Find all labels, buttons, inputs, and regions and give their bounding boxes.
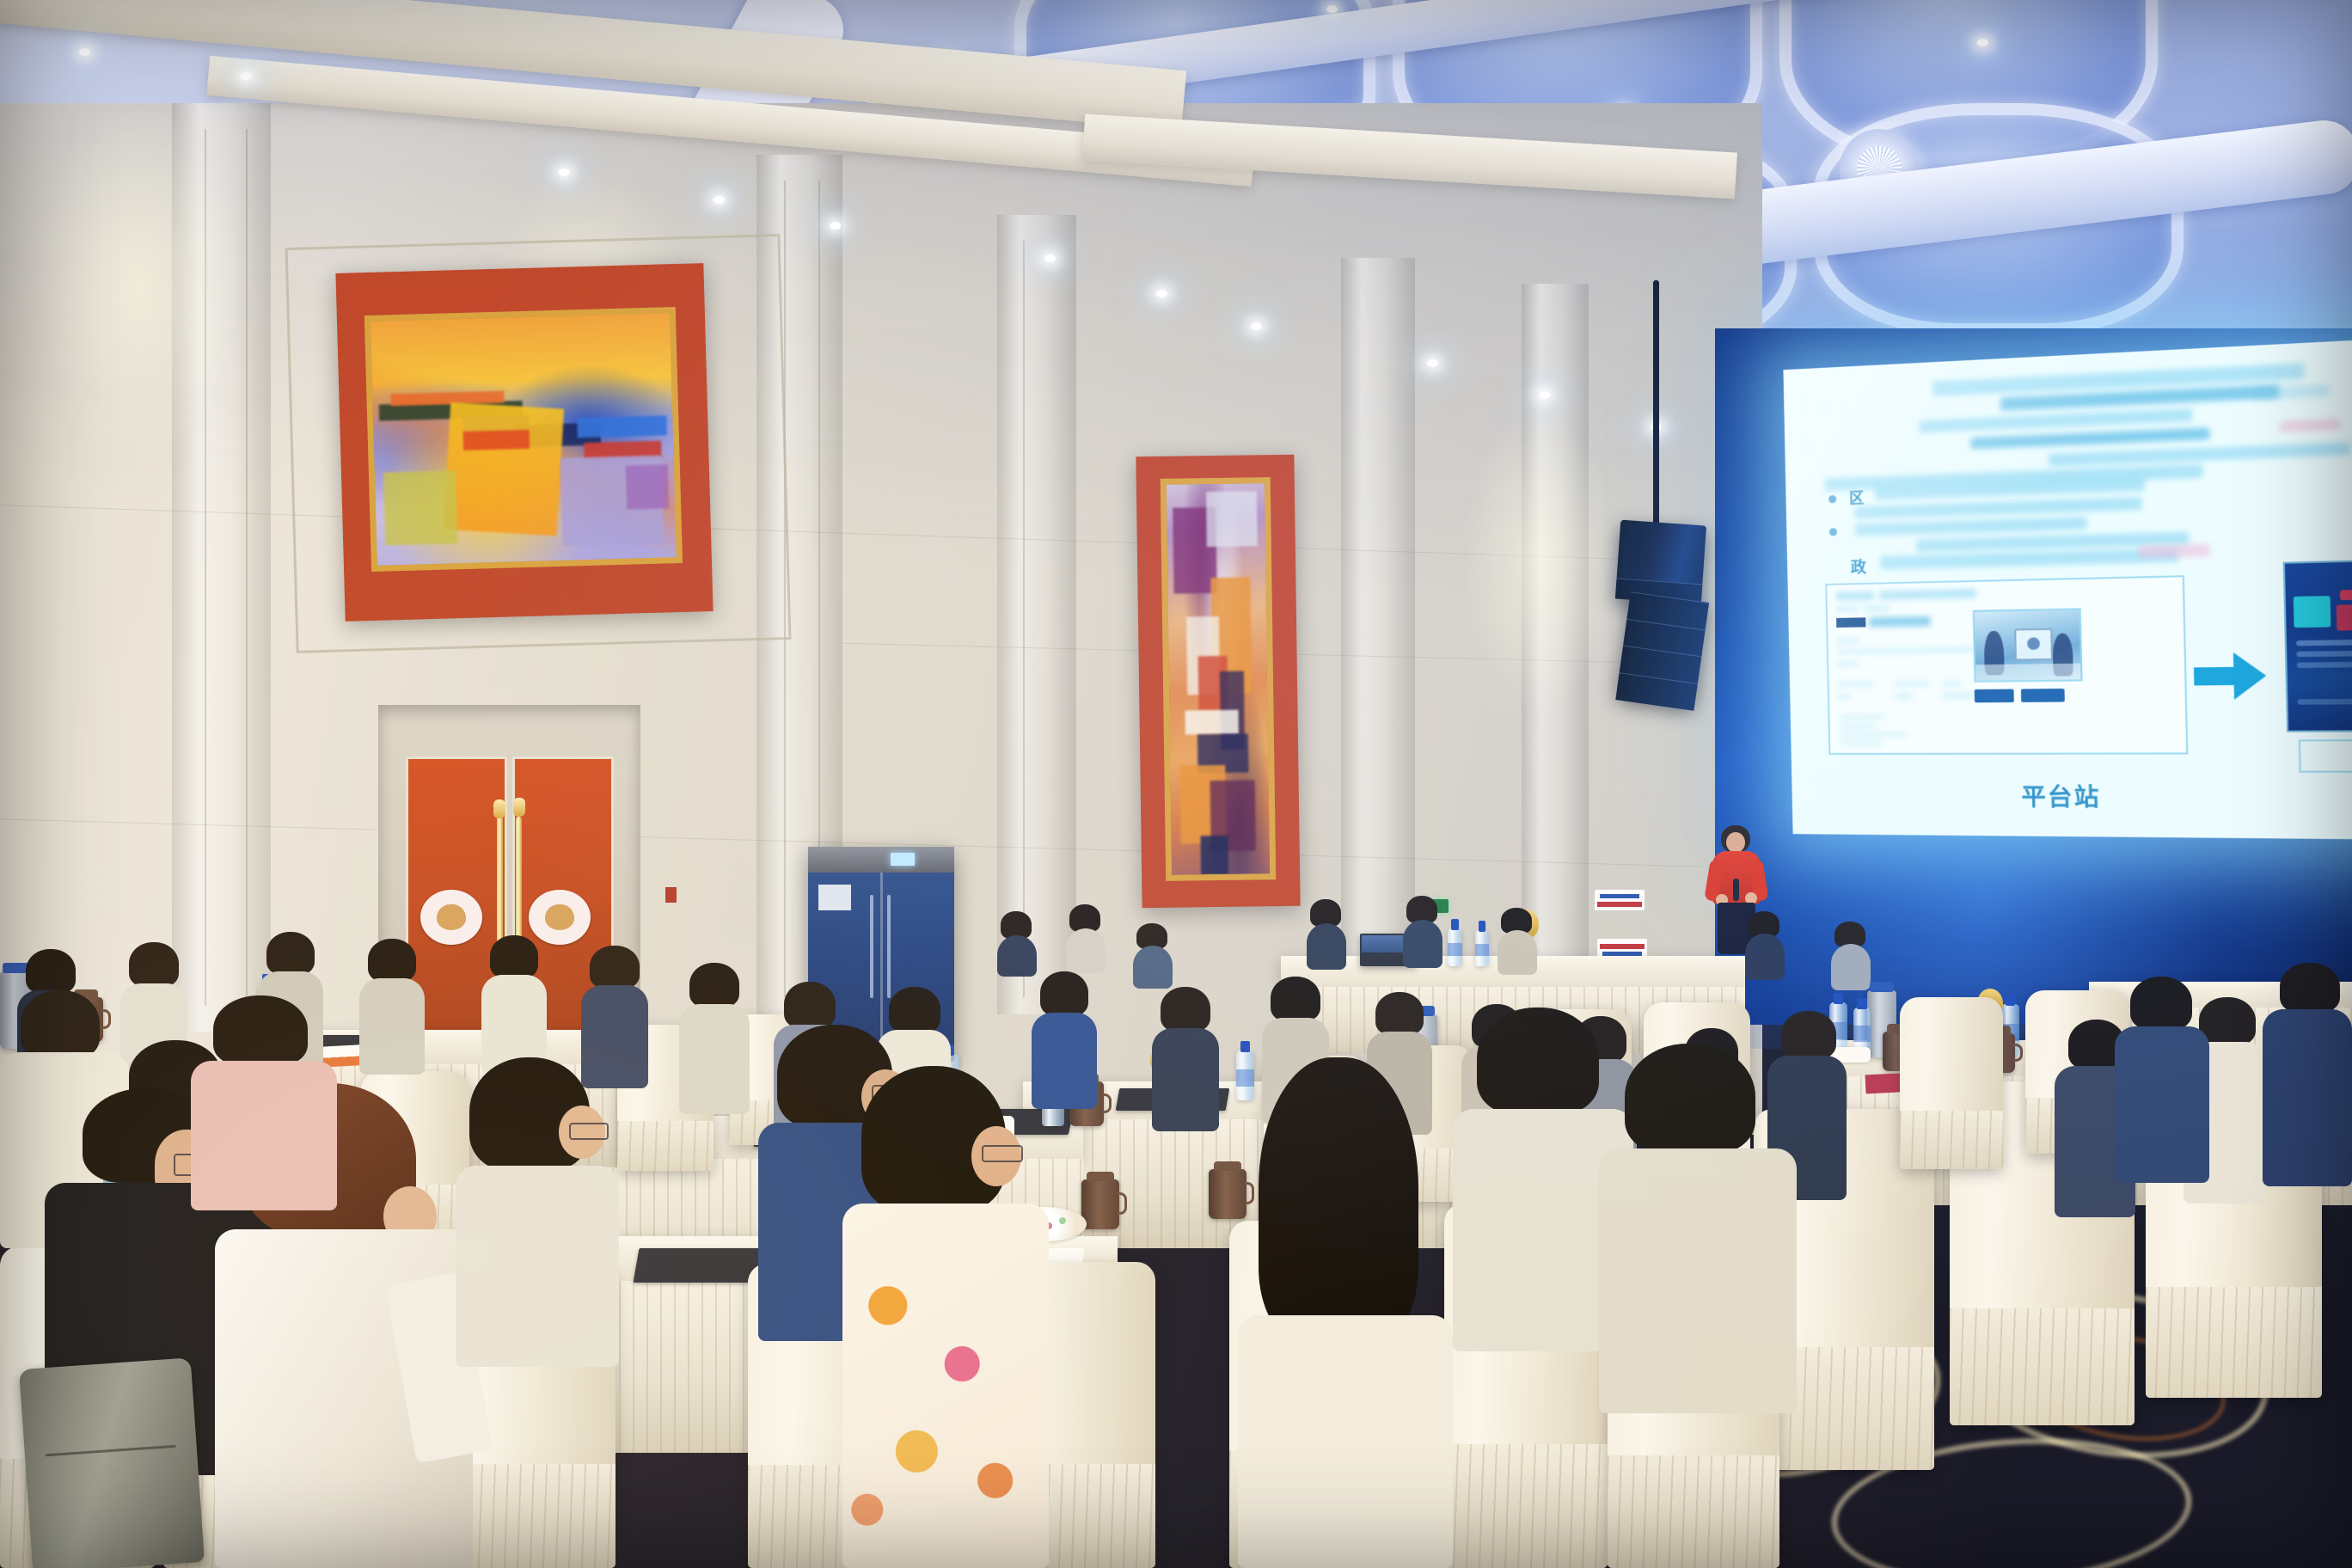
conference-hall-photo: 区 政: [0, 0, 2352, 1568]
fridge-handle-left[interactable]: [870, 895, 873, 998]
slide-arrow-shaft: [2194, 667, 2234, 686]
attendee-foreground-floral: [842, 1066, 1049, 1568]
person-far: [1066, 904, 1106, 973]
attendee: [359, 939, 425, 1075]
eyeglasses: [982, 1145, 1023, 1162]
person-far: [1307, 899, 1346, 970]
person-far: [1403, 896, 1442, 968]
slide-screenshot-card: [1825, 575, 2188, 755]
person-far: [1133, 923, 1173, 989]
handheld-microphone: [1733, 879, 1739, 901]
slide-bullet-2: [1829, 528, 1837, 536]
attendee-foreground: [1599, 1044, 1797, 1413]
slide-app-screenshot: [2283, 558, 2352, 732]
water-bottle[interactable]: [1448, 928, 1462, 966]
line-array-speaker: [1615, 520, 1706, 605]
fridge-label: [818, 885, 851, 910]
slide-caption: 平台站: [2021, 778, 2101, 813]
slide-photo-button-1: [1975, 689, 2014, 703]
door-handle-right[interactable]: [516, 817, 522, 946]
backpack[interactable]: [19, 1357, 205, 1568]
attendee: [2263, 963, 2352, 1186]
person-far: [1831, 922, 1871, 990]
wall-notice-upper: [1595, 890, 1645, 910]
fridge-display: [891, 853, 915, 866]
speaker-mount-pole: [1653, 280, 1659, 538]
slide-arrow-head: [2233, 652, 2267, 700]
door-knob-left[interactable]: [493, 799, 505, 818]
slide-bullet-1: [1828, 495, 1836, 503]
artwork-panel-1: [335, 263, 713, 622]
projection-screen: 区 政: [1783, 336, 2352, 840]
eyeglasses: [569, 1123, 609, 1140]
slide-photo-button-2: [2021, 689, 2065, 702]
fire-alarm-box: [664, 885, 678, 904]
line-array-speaker-lower: [1616, 591, 1709, 707]
water-bottle[interactable]: [1475, 930, 1489, 966]
attendee: [1152, 987, 1219, 1131]
slide-photo-thumbnail: [1973, 608, 2083, 682]
fridge-handle-right[interactable]: [887, 895, 891, 998]
attendee: [679, 963, 750, 1114]
door-knob-right[interactable]: [513, 798, 525, 817]
person-far: [1498, 908, 1537, 975]
attendee-foreground-long-hair: [1238, 1057, 1453, 1568]
artwork-panel-2: [1136, 455, 1300, 909]
attendee-foreground-glasses: [456, 1057, 619, 1367]
door-handle-left[interactable]: [497, 817, 503, 946]
attendee: [2115, 977, 2209, 1183]
banquet-chair[interactable]: [1900, 997, 2003, 1169]
clay-teapot[interactable]: [1081, 1179, 1119, 1229]
attendee: [481, 935, 547, 1073]
person-far: [1745, 911, 1785, 980]
attendee: [191, 995, 337, 1210]
person-far: [997, 911, 1037, 977]
